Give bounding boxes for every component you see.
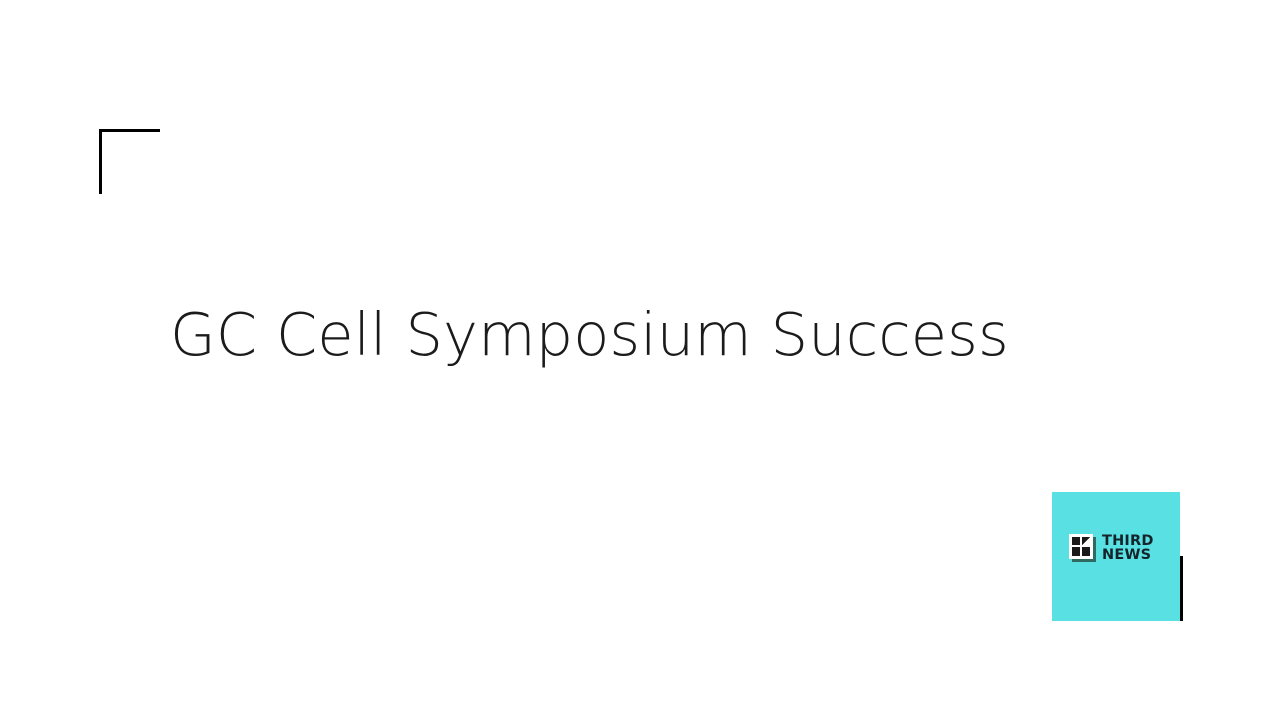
logo-line-1: THIRD (1102, 534, 1154, 548)
logo-lockup: THIRD NEWS (1069, 534, 1154, 562)
logo-wordmark: THIRD NEWS (1102, 534, 1154, 562)
newspaper-window-icon (1069, 534, 1096, 562)
logo-line-2: NEWS (1102, 548, 1154, 562)
slide-canvas: GC Cell Symposium Success THIRD NEWS (0, 0, 1280, 720)
top-left-corner-bracket (99, 129, 160, 194)
icon-horizontal-divider (1072, 545, 1090, 547)
logo-tile: THIRD NEWS (1052, 492, 1180, 621)
page-title: GC Cell Symposium Success (170, 300, 1070, 370)
